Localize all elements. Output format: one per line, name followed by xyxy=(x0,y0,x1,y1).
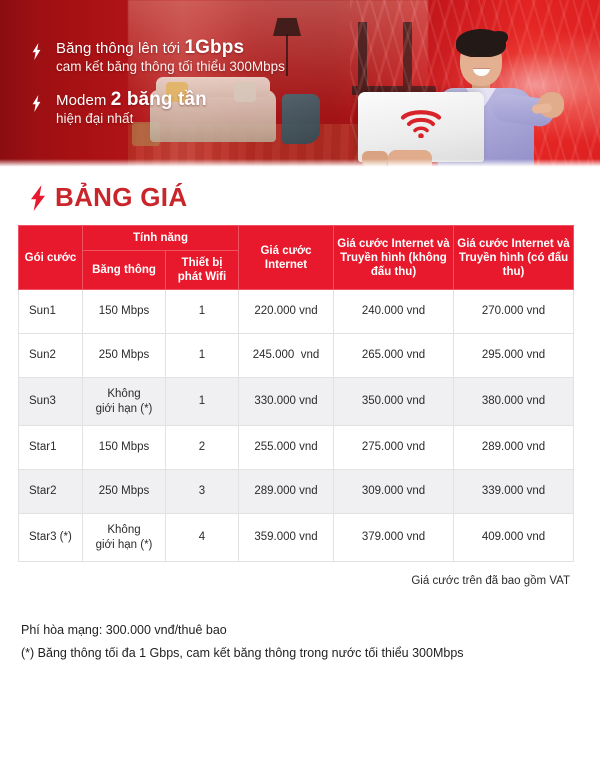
table-row: Sun3 Không giới hạn (*) 1 330.000 vnd 35… xyxy=(19,378,574,426)
cell-package: Star1 xyxy=(19,426,83,470)
th-bandwidth: Băng thông xyxy=(83,251,166,290)
cell-wifi-devices: 4 xyxy=(166,514,239,562)
cell-internet-price: 359.000 vnd xyxy=(239,514,334,562)
th-internet-tv-with-receiver: Giá cước Internet và Truyền hình (có đấu… xyxy=(454,226,574,290)
th-package: Gói cước xyxy=(19,226,83,290)
th-internet-tv-no-receiver: Giá cước Internet và Truyền hình (không … xyxy=(334,226,454,290)
bullet-2-prefix: Modem xyxy=(56,92,111,109)
section-title: BẢNG GIÁ xyxy=(18,182,582,213)
banner-bullet-2-line2: hiện đại nhất xyxy=(56,110,360,128)
cell-wifi-devices: 2 xyxy=(166,426,239,470)
cell-wifi-devices: 1 xyxy=(166,334,239,378)
footer-notes: Phí hòa mạng: 300.000 vnđ/thuê bao (*) B… xyxy=(18,619,582,665)
table-row: Sun2 250 Mbps 1 245.000 vnd 265.000 vnd … xyxy=(19,334,574,378)
banner-bullet-2-line1: Modem 2 băng tần xyxy=(56,90,360,110)
person-hair xyxy=(456,29,506,57)
footer-note-bandwidth: (*) Băng thông tối đa 1 Gbps, cam kết bă… xyxy=(21,642,582,665)
promo-banner: Băng thông lên tới 1Gbps cam kết băng th… xyxy=(0,0,600,168)
table-header: Gói cước Tính năng Giá cước Internet Giá… xyxy=(19,226,574,290)
cell-package: Sun2 xyxy=(19,334,83,378)
table-row: Sun1 150 Mbps 1 220.000 vnd 240.000 vnd … xyxy=(19,290,574,334)
cell-bandwidth: 250 Mbps xyxy=(83,470,166,514)
cell-bandwidth: 150 Mbps xyxy=(83,426,166,470)
bullet-1-prefix: Băng thông lên tới xyxy=(56,40,185,57)
cell-tv-with-receiver: 289.000 vnd xyxy=(454,426,574,470)
lightning-bolt-icon xyxy=(32,43,41,60)
person-eye xyxy=(486,54,492,57)
cell-wifi-devices: 1 xyxy=(166,378,239,426)
cell-internet-price: 289.000 vnd xyxy=(239,470,334,514)
cell-bandwidth: Không giới hạn (*) xyxy=(83,514,166,562)
cell-tv-no-receiver: 350.000 vnd xyxy=(334,378,454,426)
cell-tv-no-receiver: 309.000 vnd xyxy=(334,470,454,514)
cell-internet-price: 245.000 vnd xyxy=(239,334,334,378)
cell-bandwidth: 150 Mbps xyxy=(83,290,166,334)
cell-internet-price: 330.000 vnd xyxy=(239,378,334,426)
cell-bandwidth: 250 Mbps xyxy=(83,334,166,378)
cell-tv-with-receiver: 339.000 vnd xyxy=(454,470,574,514)
page-title: BẢNG GIÁ xyxy=(55,182,187,213)
cell-wifi-devices: 1 xyxy=(166,290,239,334)
cell-internet-price: 255.000 vnd xyxy=(239,426,334,470)
table-body: Sun1 150 Mbps 1 220.000 vnd 240.000 vnd … xyxy=(19,290,574,562)
vat-note: Giá cước trên đã bao gồm VAT xyxy=(18,575,573,587)
cell-tv-with-receiver: 270.000 vnd xyxy=(454,290,574,334)
cell-package: Sun3 xyxy=(19,378,83,426)
banner-bullet-1: Băng thông lên tới 1Gbps cam kết băng th… xyxy=(30,38,360,76)
footer-note-install-fee: Phí hòa mạng: 300.000 vnđ/thuê bao xyxy=(21,619,582,642)
bullet-1-highlight: 1Gbps xyxy=(185,37,245,58)
banner-bullet-1-line2: cam kết băng thông tối thiểu 300Mbps xyxy=(56,58,360,76)
cell-bandwidth: Không giới hạn (*) xyxy=(83,378,166,426)
cell-tv-no-receiver: 265.000 vnd xyxy=(334,334,454,378)
cell-tv-with-receiver: 380.000 vnd xyxy=(454,378,574,426)
banner-bullet-1-line1: Băng thông lên tới 1Gbps xyxy=(56,38,360,58)
cell-tv-no-receiver: 240.000 vnd xyxy=(334,290,454,334)
wifi-icon xyxy=(400,108,442,138)
table-row: Star3 (*) Không giới hạn (*) 4 359.000 v… xyxy=(19,514,574,562)
cell-tv-no-receiver: 275.000 vnd xyxy=(334,426,454,470)
bullet-2-highlight: 2 băng tần xyxy=(111,89,207,110)
th-wifi-device: Thiết bị phát Wifi xyxy=(166,251,239,290)
pricing-table: Gói cước Tính năng Giá cước Internet Giá… xyxy=(18,225,574,562)
cell-internet-price: 220.000 vnd xyxy=(239,290,334,334)
banner-bullet-list: Băng thông lên tới 1Gbps cam kết băng th… xyxy=(30,38,360,142)
th-internet-price: Giá cước Internet xyxy=(239,226,334,290)
pricing-section: BẢNG GIÁ Gói cước Tính năng Giá cước Int… xyxy=(0,182,600,665)
cell-wifi-devices: 3 xyxy=(166,470,239,514)
cell-tv-no-receiver: 379.000 vnd xyxy=(334,514,454,562)
table-row: Star1 150 Mbps 2 255.000 vnd 275.000 vnd… xyxy=(19,426,574,470)
table-row: Star2 250 Mbps 3 289.000 vnd 309.000 vnd… xyxy=(19,470,574,514)
banner-bullet-2: Modem 2 băng tần hiện đại nhất xyxy=(30,90,360,128)
cell-tv-with-receiver: 295.000 vnd xyxy=(454,334,574,378)
cell-package: Star2 xyxy=(19,470,83,514)
table-header-row-1: Gói cước Tính năng Giá cước Internet Giá… xyxy=(19,226,574,251)
lightning-bolt-icon xyxy=(32,95,41,112)
th-features-group: Tính năng xyxy=(83,226,239,251)
lightning-bolt-icon xyxy=(30,185,46,211)
cell-tv-with-receiver: 409.000 vnd xyxy=(454,514,574,562)
cell-package: Star3 (*) xyxy=(19,514,83,562)
cell-package: Sun1 xyxy=(19,290,83,334)
banner-bottom-fade xyxy=(0,159,600,168)
person-eye xyxy=(469,54,475,57)
